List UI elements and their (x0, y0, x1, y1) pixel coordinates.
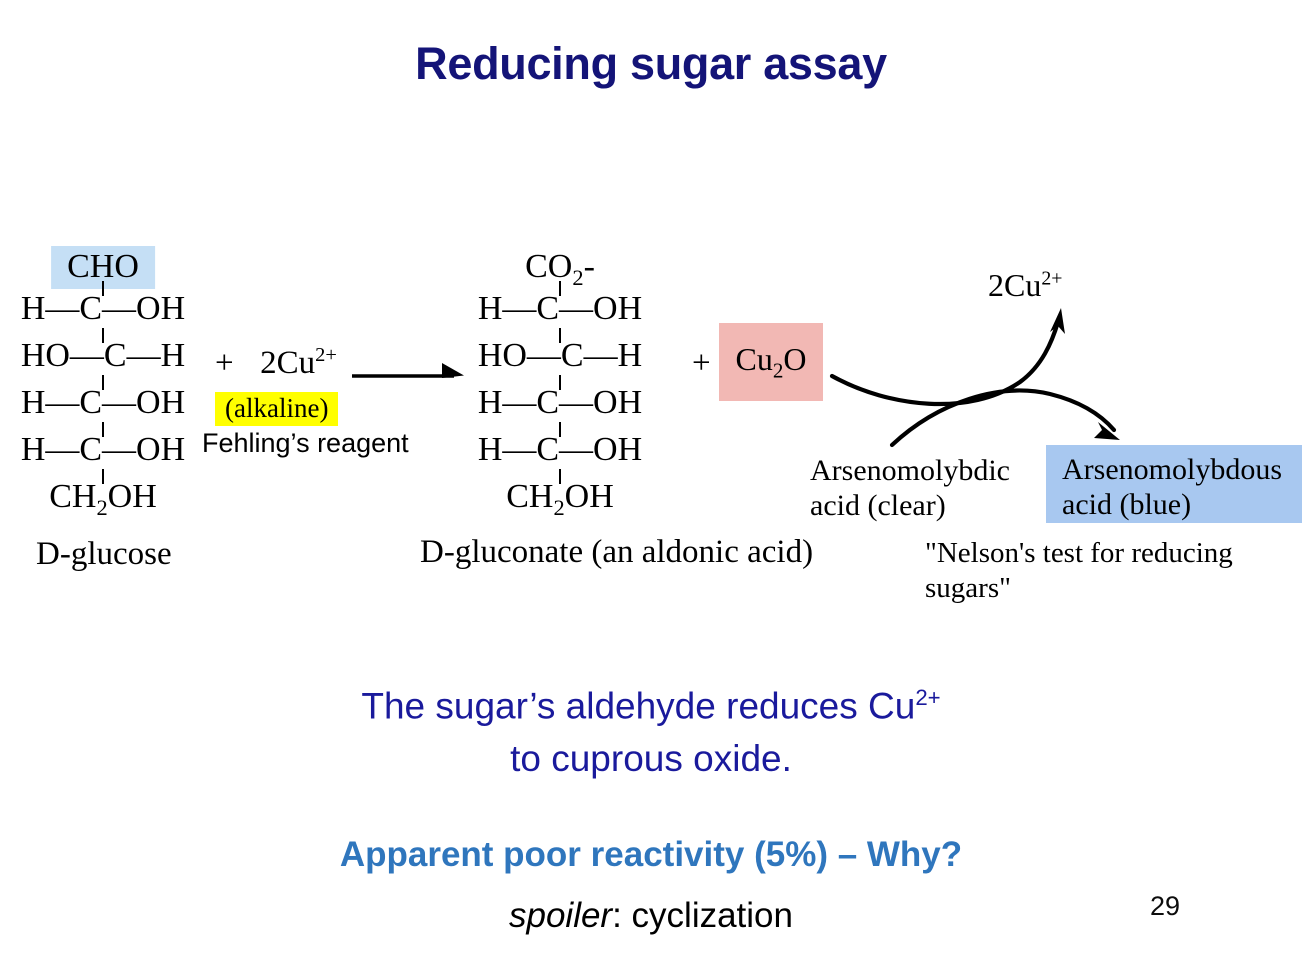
reagent-plus-species: + 2Cu2+ (215, 344, 337, 382)
nelson-test-caption: "Nelson's test for reducing sugars" (925, 536, 1233, 606)
glucose-row: HO—C—H (8, 339, 198, 386)
glucose-bottom-row: CH2OH (8, 480, 198, 527)
gluconate-row-label: H—C—OH (478, 433, 642, 467)
alkaline-highlight: (alkaline) (215, 392, 338, 426)
reagent-condition: (alkaline) (215, 393, 338, 424)
gluconate-top-row: CO2- (460, 250, 660, 292)
arsenomolybdous-line1: Arsenomolybdous (1062, 453, 1282, 486)
coproduct-formula: Cu2O (719, 323, 823, 401)
gluconate-row: H—C—OH (460, 292, 660, 339)
glucose-row: H—C—OH (8, 433, 198, 480)
gluconate-row-label: H—C—OH (478, 292, 642, 326)
label-d-glucose: D-glucose (36, 536, 172, 573)
arsenomolybdic-acid-label: Arsenomolybdic acid (clear) (810, 453, 1010, 523)
question-line: Apparent poor reactivity (5%) – Why? (0, 835, 1302, 875)
gluconate-bottom-group: CH2OH (506, 480, 614, 519)
arsenomolybdous-line2: acid (blue) (1062, 488, 1191, 521)
statement-line-1-text: The sugar’s aldehyde reduces Cu (361, 685, 915, 726)
nelson-caption-line1: "Nelson's test for reducing (925, 537, 1233, 569)
label-d-gluconate: D-gluconate (an aldonic acid) (420, 534, 813, 571)
nelson-curved-arrows (820, 290, 1140, 460)
oxidant-charge: 2+ (1041, 267, 1062, 289)
structure-d-gluconate: CO2- H—C—OH HO—C—H H—C—OH H—C—OH CH2OH (460, 250, 660, 527)
glucose-top-row: CHO (8, 250, 198, 292)
glucose-row: H—C—OH (8, 386, 198, 433)
statement-line-1-sup: 2+ (915, 685, 940, 710)
arsenomolybdic-line1: Arsenomolybdic (810, 454, 1010, 487)
arsenomolybdic-line2: acid (clear) (810, 489, 946, 522)
coproduct-plus: + (692, 345, 711, 382)
spoiler-line: spoiler: cyclization (0, 896, 1302, 936)
glucose-row: H—C—OH (8, 292, 198, 339)
glucose-row-label: H—C—OH (21, 433, 185, 467)
slide-canvas: Reducing sugar assay CHO H—C—OH HO—C—H H… (0, 0, 1302, 974)
reagent-species: 2Cu (260, 345, 315, 381)
glucose-row-label: H—C—OH (21, 386, 185, 420)
glucose-row-label: HO—C—H (21, 339, 185, 373)
reaction-arrow (350, 356, 470, 390)
structure-d-glucose: CHO H—C—OH HO—C—H H—C—OH H—C—OH CH2OH (8, 250, 198, 527)
reagent-name-fehlings: Fehling’s reagent (202, 428, 409, 459)
cu2o-text: Cu2O (735, 341, 806, 383)
gluconate-bottom-row: CH2OH (460, 480, 660, 527)
statement-line-1: The sugar’s aldehyde reduces Cu2+ (0, 685, 1302, 727)
glucose-top-group: CHO (51, 250, 155, 284)
nelson-caption-line2: sugars" (925, 572, 1011, 604)
plus-sign: + (215, 345, 234, 381)
gluconate-row: H—C—OH (460, 433, 660, 480)
statement-line-2: to cuprous oxide. (0, 738, 1302, 780)
gluconate-row-label: H—C—OH (478, 386, 642, 420)
glucose-bottom-group: CH2OH (49, 480, 157, 519)
page-title: Reducing sugar assay (0, 38, 1302, 90)
gluconate-row: H—C—OH (460, 386, 660, 433)
gluconate-row: HO—C—H (460, 339, 660, 386)
arsenomolybdous-acid-label: Arsenomolybdous acid (blue) (1062, 452, 1282, 522)
reagent-charge: 2+ (315, 344, 337, 366)
page-number: 29 (1150, 891, 1180, 922)
spoiler-answer: : cyclization (612, 896, 793, 935)
spoiler-keyword: spoiler (509, 896, 612, 935)
glucose-row-label: H—C—OH (21, 292, 185, 326)
gluconate-row-label: HO—C—H (478, 339, 642, 373)
